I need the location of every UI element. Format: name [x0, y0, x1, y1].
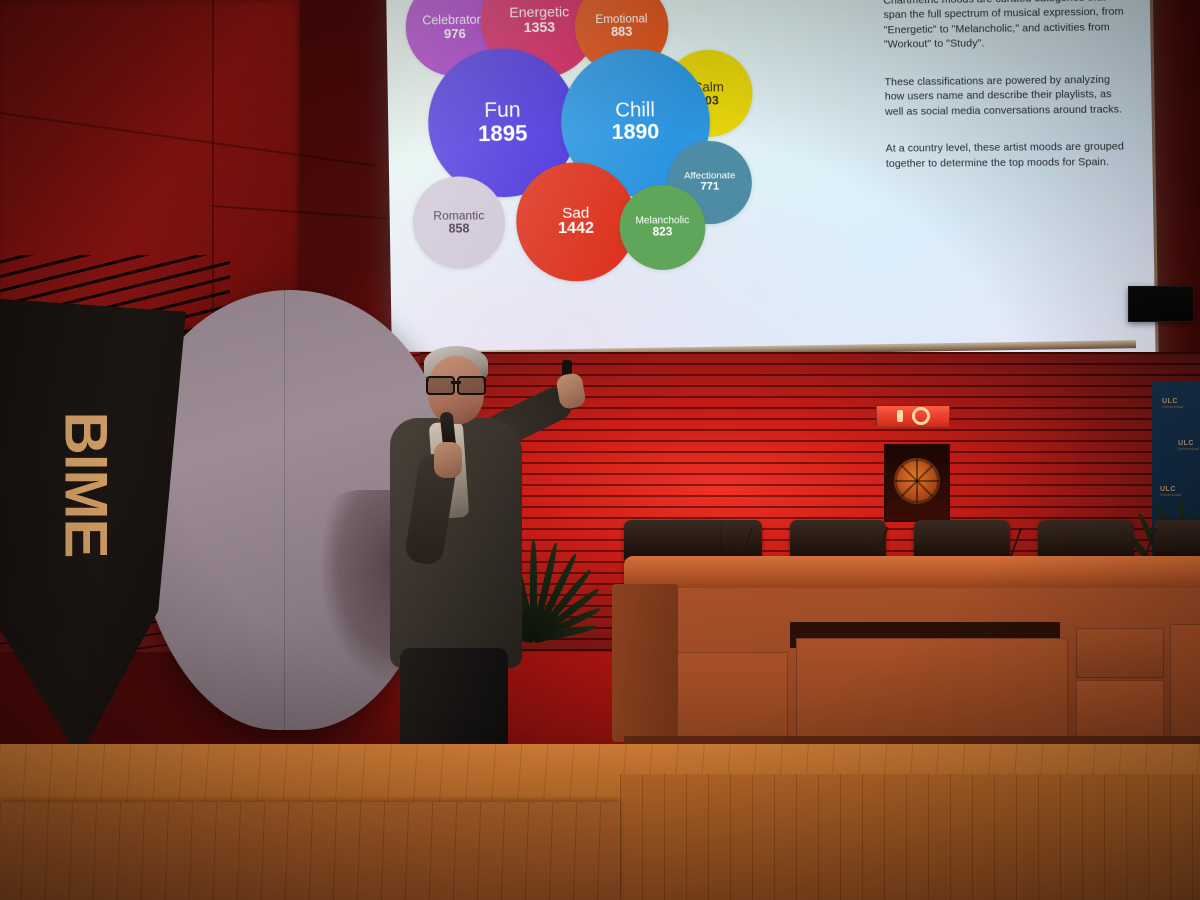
- fire-hose-cabinet: [884, 444, 950, 522]
- bime-wordmark: BIME: [52, 335, 121, 635]
- projection-screen: Chartmetric Celebratory976Energetic1353E…: [386, 0, 1159, 379]
- mood-bubble-value: 1895: [478, 122, 528, 146]
- mood-bubble-label: Fun: [484, 100, 521, 123]
- desk-top: [624, 556, 1200, 590]
- stage-riser: [620, 774, 1200, 900]
- stage-step: [0, 802, 620, 900]
- mood-bubble-value: 976: [444, 27, 466, 41]
- presenter-left-hand: [434, 442, 462, 478]
- desk-drawer: [1076, 680, 1164, 738]
- mood-bubble-value: 883: [611, 26, 632, 40]
- mood-bubble-value: 771: [700, 182, 719, 194]
- fire-hose-reel: [894, 458, 940, 504]
- mood-bubble-value: 823: [653, 227, 673, 239]
- mood-bubble-value: 1890: [612, 122, 660, 145]
- mood-bubble-label: Romantic: [433, 210, 484, 223]
- ulc-logo: ULCUniversidad: [1162, 398, 1183, 409]
- paragraph-3: At a country level, these artist moods a…: [886, 141, 1133, 173]
- mood-bubble-value: 858: [448, 222, 469, 235]
- mood-bubble-label: Melancholic: [635, 216, 689, 227]
- panel-desk: [624, 556, 1200, 756]
- desk-drawer: [1076, 628, 1164, 678]
- desk-end-cap: [612, 584, 678, 742]
- paragraph-2: These classifications are powered by ana…: [884, 73, 1131, 120]
- hose-reel-icon: [912, 407, 930, 425]
- desk-center-panel: [796, 638, 1068, 738]
- paragraph-1: Chartmetric moods are curated categories…: [883, 0, 1130, 54]
- mood-bubble: Melancholic823: [619, 185, 706, 270]
- desk-front-panel: [630, 588, 1200, 738]
- extinguisher-icon: [897, 410, 903, 422]
- conference-photo: Chartmetric Celebratory976Energetic1353E…: [0, 0, 1200, 900]
- mood-bubble-chart: Celebratory976Energetic1353Emotional883C…: [386, 0, 902, 374]
- presenter: [372, 338, 582, 808]
- mood-bubble: Sad1442: [515, 162, 636, 282]
- mood-bubble-label: Chill: [615, 101, 655, 123]
- eyeglasses-icon: [426, 376, 486, 391]
- mood-bubble-label: Sad: [562, 205, 589, 221]
- desk-side-panel: [1170, 624, 1200, 740]
- wall-mounted-speaker: [1128, 286, 1194, 322]
- stage-floor: [0, 744, 1200, 900]
- fire-equipment-sign: [876, 405, 950, 427]
- slide-body-copy: Chartmetric moods are curated categories…: [883, 0, 1133, 195]
- mood-bubble-value: 1442: [558, 221, 594, 238]
- mood-bubble-value: 1353: [524, 20, 556, 35]
- mood-bubble: Romantic858: [412, 176, 506, 269]
